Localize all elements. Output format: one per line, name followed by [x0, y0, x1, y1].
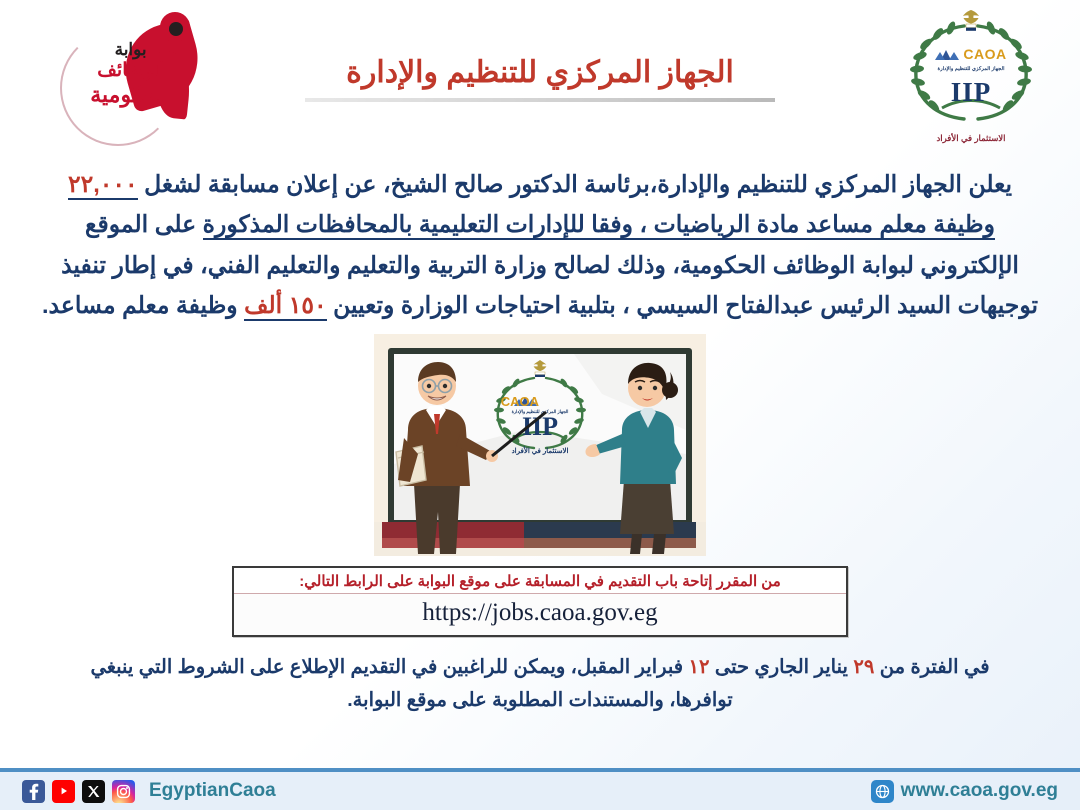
- start-date: ٢٩: [853, 656, 874, 678]
- website-link[interactable]: www.caoa.gov.eg: [871, 780, 1058, 803]
- x-glyph: [87, 785, 100, 798]
- classroom-illustration: CAOA الجهاز المركزي للتنظيم والإدارة IIP…: [374, 334, 706, 556]
- caoa-arabic-name: الجهاز المركزي للتنظيم والإدارة: [902, 66, 1040, 72]
- title-underline: [305, 98, 775, 102]
- social-handle: EgyptianCaoa: [149, 780, 276, 802]
- application-link-box: من المقرر إتاحة باب التقديم في المسابقة …: [232, 566, 848, 637]
- caoa-iip-logo: CAOA الجهاز المركزي للتنظيم والإدارة IIP…: [902, 6, 1040, 142]
- iip-tagline: الاستثمار في الأفراد: [902, 133, 1040, 144]
- announcement-part4: وظيفة معلم مساعد.: [42, 292, 238, 318]
- application-url[interactable]: https://jobs.caoa.gov.eg: [234, 594, 846, 635]
- pyramids-icon: [935, 48, 961, 60]
- youtube-glyph: [56, 785, 71, 797]
- teachers-illustration: CAOA الجهاز المركزي للتنظيم والإدارة IIP…: [374, 334, 706, 556]
- website-url: www.caoa.gov.eg: [901, 780, 1058, 802]
- globe-icon: [871, 780, 894, 803]
- announcement-part1: يعلن الجهاز المركزي للتنظيم والإدارة،برئ…: [144, 171, 1012, 197]
- social-links: EgyptianCaoa: [22, 780, 276, 803]
- caoa-logo-inner: CAOA الجهاز المركزي للتنظيم والإدارة IIP: [902, 46, 1040, 106]
- closing-mid1: يناير الجاري حتى: [715, 656, 848, 678]
- youtube-icon[interactable]: [52, 780, 75, 803]
- link-box-caption: من المقرر إتاحة باب التقديم في المسابقة …: [234, 568, 846, 594]
- announcement-text: يعلن الجهاز المركزي للتنظيم والإدارة،برئ…: [36, 164, 1044, 326]
- announcement-part2: وظيفة معلم مساعد مادة الرياضيات ، وفقا ل…: [203, 211, 995, 240]
- page-title: الجهاز المركزي للتنظيم والإدارة: [346, 55, 734, 96]
- facebook-icon[interactable]: [22, 780, 45, 803]
- header: بوابة الوظائف الحكومية الجهاز المركزي لل…: [0, 0, 1080, 148]
- svg-text:CAOA: CAOA: [501, 394, 540, 409]
- caoa-wordmark: CAOA: [935, 46, 1006, 62]
- closing-lead: في الفترة من: [880, 656, 990, 678]
- jobs-count: ٢٢,٠٠٠: [68, 171, 138, 200]
- x-twitter-icon[interactable]: [82, 780, 105, 803]
- closing-mid2: فبراير المقبل، ويمكن للراغبين في التقديم…: [139, 656, 683, 678]
- instagram-glyph: [116, 784, 131, 799]
- end-date: ١٢: [689, 656, 710, 678]
- facebook-glyph: [27, 783, 40, 800]
- announcement-poster: بوابة الوظائف الحكومية الجهاز المركزي لل…: [0, 0, 1080, 810]
- caoa-acronym: CAOA: [963, 46, 1006, 62]
- running-person-head-icon: [160, 12, 190, 42]
- iip-acronym: IIP: [902, 79, 1040, 106]
- globe-glyph: [875, 784, 890, 799]
- footer-bar: EgyptianCaoa www.caoa.gov.eg: [0, 768, 1080, 810]
- closing-text: في الفترة من ٢٩ يناير الجاري حتى ١٢ فبرا…: [90, 651, 990, 718]
- instagram-icon[interactable]: [112, 780, 135, 803]
- total-jobs-count: ١٥٠ ألف: [244, 292, 326, 321]
